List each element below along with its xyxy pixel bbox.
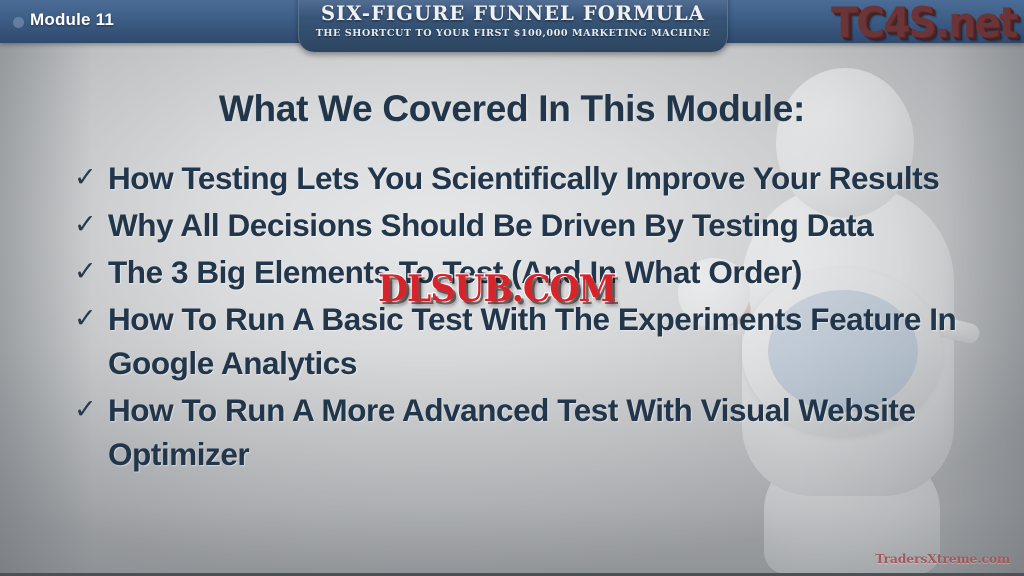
list-item: ✓ Why All Decisions Should Be Driven By … — [74, 203, 984, 247]
checkmark-icon: ✓ — [74, 156, 108, 200]
list-item-label: How To Run A Basic Test With The Experim… — [108, 297, 984, 385]
module-label: Module 11 — [30, 10, 114, 30]
dlsub-watermark: DLSUB.COM — [378, 268, 616, 310]
covered-topics-list: ✓ How Testing Lets You Scientifically Im… — [74, 156, 984, 479]
header-bullet-dot-icon — [13, 17, 24, 28]
list-item-label: How Testing Lets You Scientifically Impr… — [108, 156, 984, 200]
list-item: ✓ How To Run A Basic Test With The Exper… — [74, 297, 984, 385]
course-logo-ribbon: SIX-FIGURE FUNNEL FORMULA THE SHORTCUT T… — [298, 0, 728, 52]
list-item-label: Why All Decisions Should Be Driven By Te… — [108, 203, 984, 247]
checkmark-icon: ✓ — [74, 203, 108, 247]
course-subtitle: THE SHORTCUT TO YOUR FIRST $100,000 MARK… — [299, 28, 727, 39]
slide-canvas: Module 11 SIX-FIGURE FUNNEL FORMULA THE … — [0, 0, 1024, 576]
page-title: What We Covered In This Module: — [0, 88, 1024, 130]
checkmark-icon: ✓ — [74, 297, 108, 341]
course-title: SIX-FIGURE FUNNEL FORMULA — [299, 2, 727, 25]
list-item-label: How To Run A More Advanced Test With Vis… — [108, 388, 984, 476]
site-watermark-top: TC4S.net — [831, 0, 1016, 47]
footer-watermark: TradersXtreme.com — [875, 551, 1010, 566]
checkmark-icon: ✓ — [74, 388, 108, 432]
list-item: ✓ How Testing Lets You Scientifically Im… — [74, 156, 984, 200]
checkmark-icon: ✓ — [74, 250, 108, 294]
list-item: ✓ How To Run A More Advanced Test With V… — [74, 388, 984, 476]
